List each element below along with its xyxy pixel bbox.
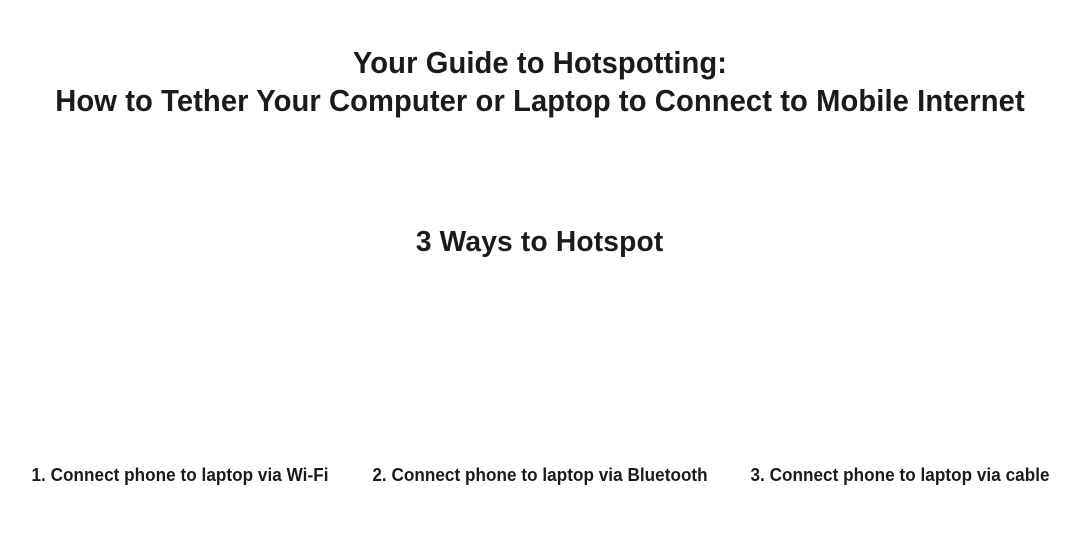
page-title: Your Guide to Hotspotting: How to Tether… [0,44,1080,120]
figure-bluetooth: 2. Connect phone to laptop via Bluetooth [360,286,720,516]
section-heading: 3 Ways to Hotspot [0,222,1080,262]
article-page: Your Guide to Hotspotting: How to Tether… [0,0,1080,552]
figure-caption-wifi: 1. Connect phone to laptop via Wi-Fi [9,464,351,516]
figure-image-bluetooth [375,286,705,464]
figure-image-cable [735,286,1065,464]
hotspot-methods-gallery: 1. Connect phone to laptop via Wi-Fi 2. … [0,286,1080,516]
figure-image-wifi [15,286,345,464]
section-heading-label: 3 Ways to Hotspot [416,222,664,262]
figure-caption-bluetooth: 2. Connect phone to laptop via Bluetooth [369,464,711,516]
page-title-line-1: Your Guide to Hotspotting: [32,44,1047,82]
figure-caption-cable: 3. Connect phone to laptop via cable [729,464,1071,516]
figure-wifi: 1. Connect phone to laptop via Wi-Fi [0,286,360,516]
page-title-line-2: How to Tether Your Computer or Laptop to… [32,82,1047,120]
figure-cable: 3. Connect phone to laptop via cable [720,286,1080,516]
